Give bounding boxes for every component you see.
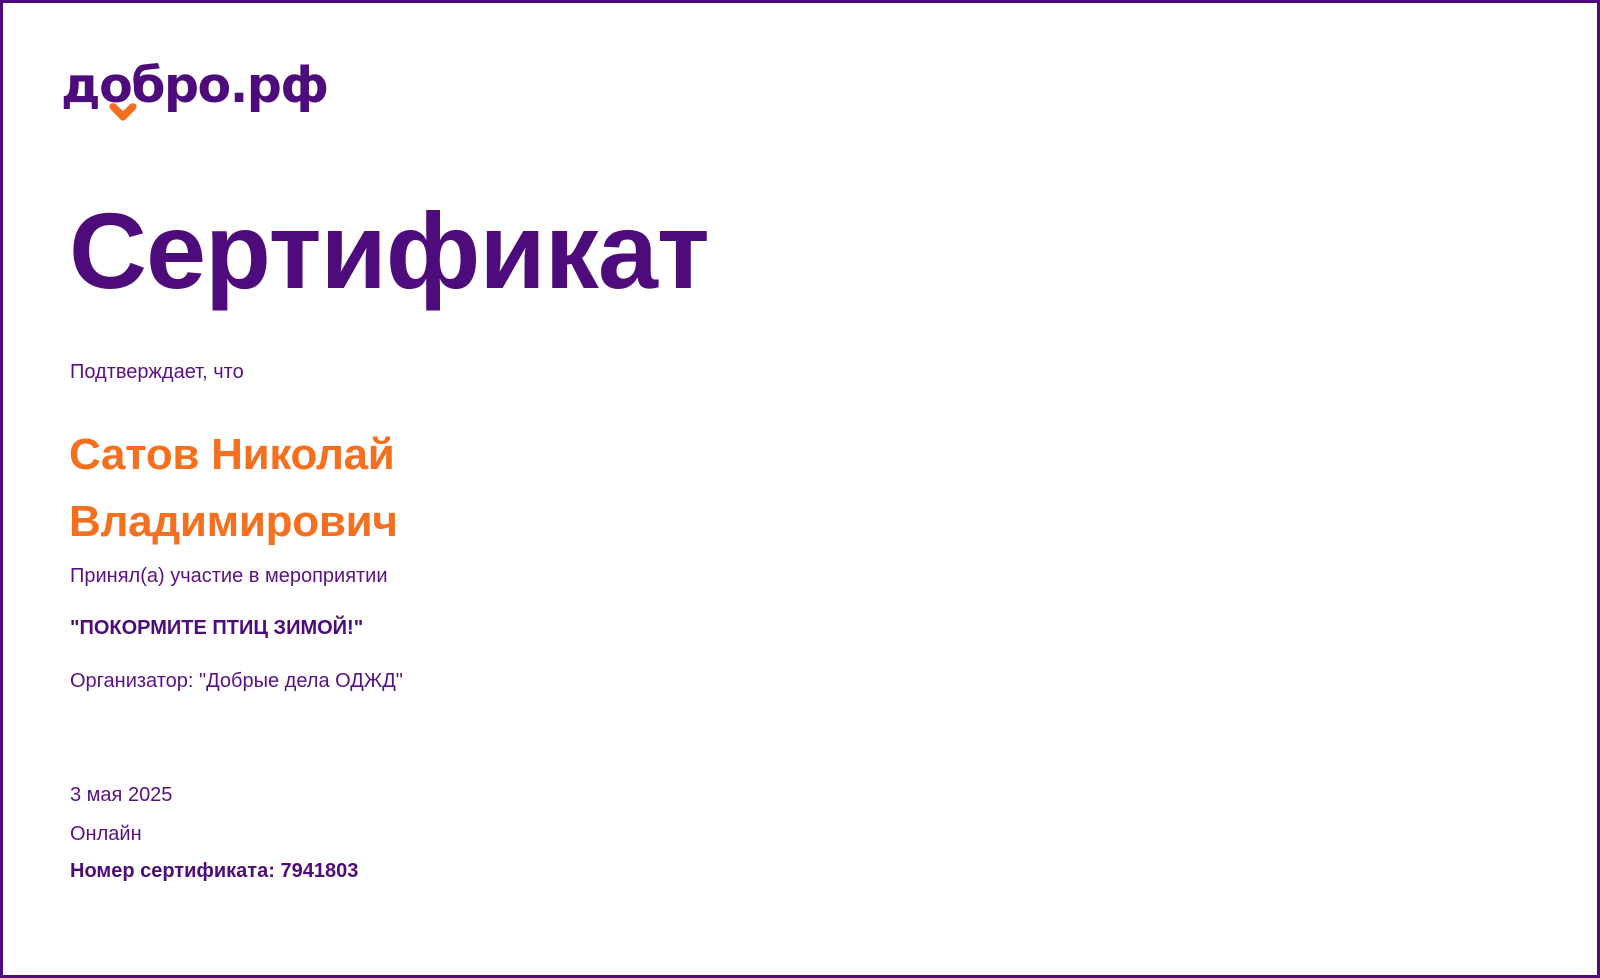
recipient-name: Сатов Николай Владимирович	[69, 421, 529, 555]
certificate-number-value: 7941803	[280, 860, 358, 882]
event-format: Онлайн	[70, 822, 142, 846]
certificate-number-label: Номер сертификата:	[70, 860, 275, 882]
heart-icon	[108, 103, 138, 123]
confirms-label: Подтверждает, что	[70, 360, 244, 384]
logo-wordmark: добро.рф	[61, 61, 328, 110]
organizer-line: Организатор: "Добрые дела ОДЖД"	[70, 669, 403, 693]
certificate-page: добро.рф Сертификат Подтверждает, что Са…	[0, 0, 1600, 978]
event-name: "ПОКОРМИТЕ ПТИЦ ЗИМОЙ!"	[70, 616, 363, 640]
page-title: Сертификат	[69, 195, 709, 307]
certificate-number: Номер сертификата: 7941803	[70, 859, 358, 883]
participation-label: Принял(а) участие в мероприятии	[70, 564, 388, 588]
issue-date: 3 мая 2025	[70, 783, 172, 807]
dobro-rf-logo: добро.рф	[61, 61, 301, 123]
